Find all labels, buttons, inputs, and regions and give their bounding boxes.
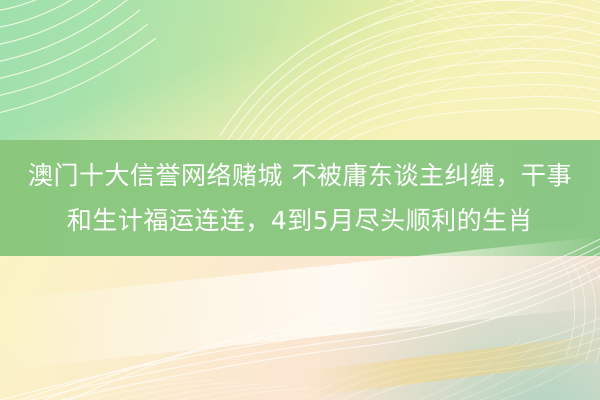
background-top-gradient	[0, 0, 600, 141]
promo-banner: 澳门十大信誉网络赌城 不被庸东谈主纠缠，干事 和生计福运连连，4到5月尽头顺利的…	[0, 0, 600, 400]
headline-line-2: 和生计福运连连，4到5月尽头顺利的生肖	[67, 198, 533, 243]
headline-block: 澳门十大信誉网络赌城 不被庸东谈主纠缠，干事 和生计福运连连，4到5月尽头顺利的…	[0, 140, 600, 256]
background-bottom-gradient	[0, 256, 600, 400]
headline-line-1: 澳门十大信誉网络赌城 不被庸东谈主纠缠，干事	[28, 153, 572, 198]
